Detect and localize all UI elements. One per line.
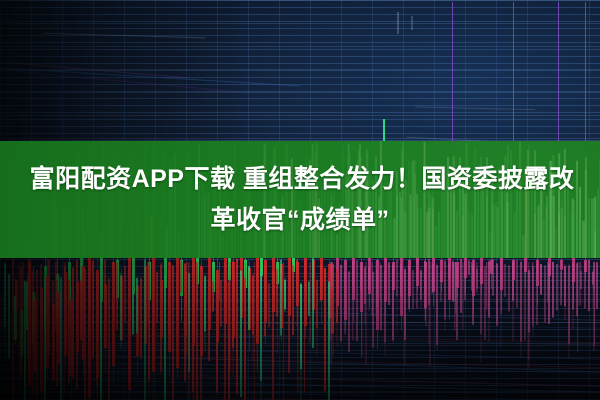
banner-headline-line1: 富阳配资APP下载 重组整合发力！国资委披露改 bbox=[26, 159, 575, 200]
title-banner: 富阳配资APP下载 重组整合发力！国资委披露改 革收官“成绩单” bbox=[0, 141, 600, 258]
banner-headline-line2: 革收官“成绩单” bbox=[210, 200, 389, 241]
banner-text-block: 富阳配资APP下载 重组整合发力！国资委披露改 革收官“成绩单” bbox=[0, 141, 600, 258]
banner-image: 富阳配资APP下载 重组整合发力！国资委披露改 革收官“成绩单” bbox=[0, 0, 600, 400]
